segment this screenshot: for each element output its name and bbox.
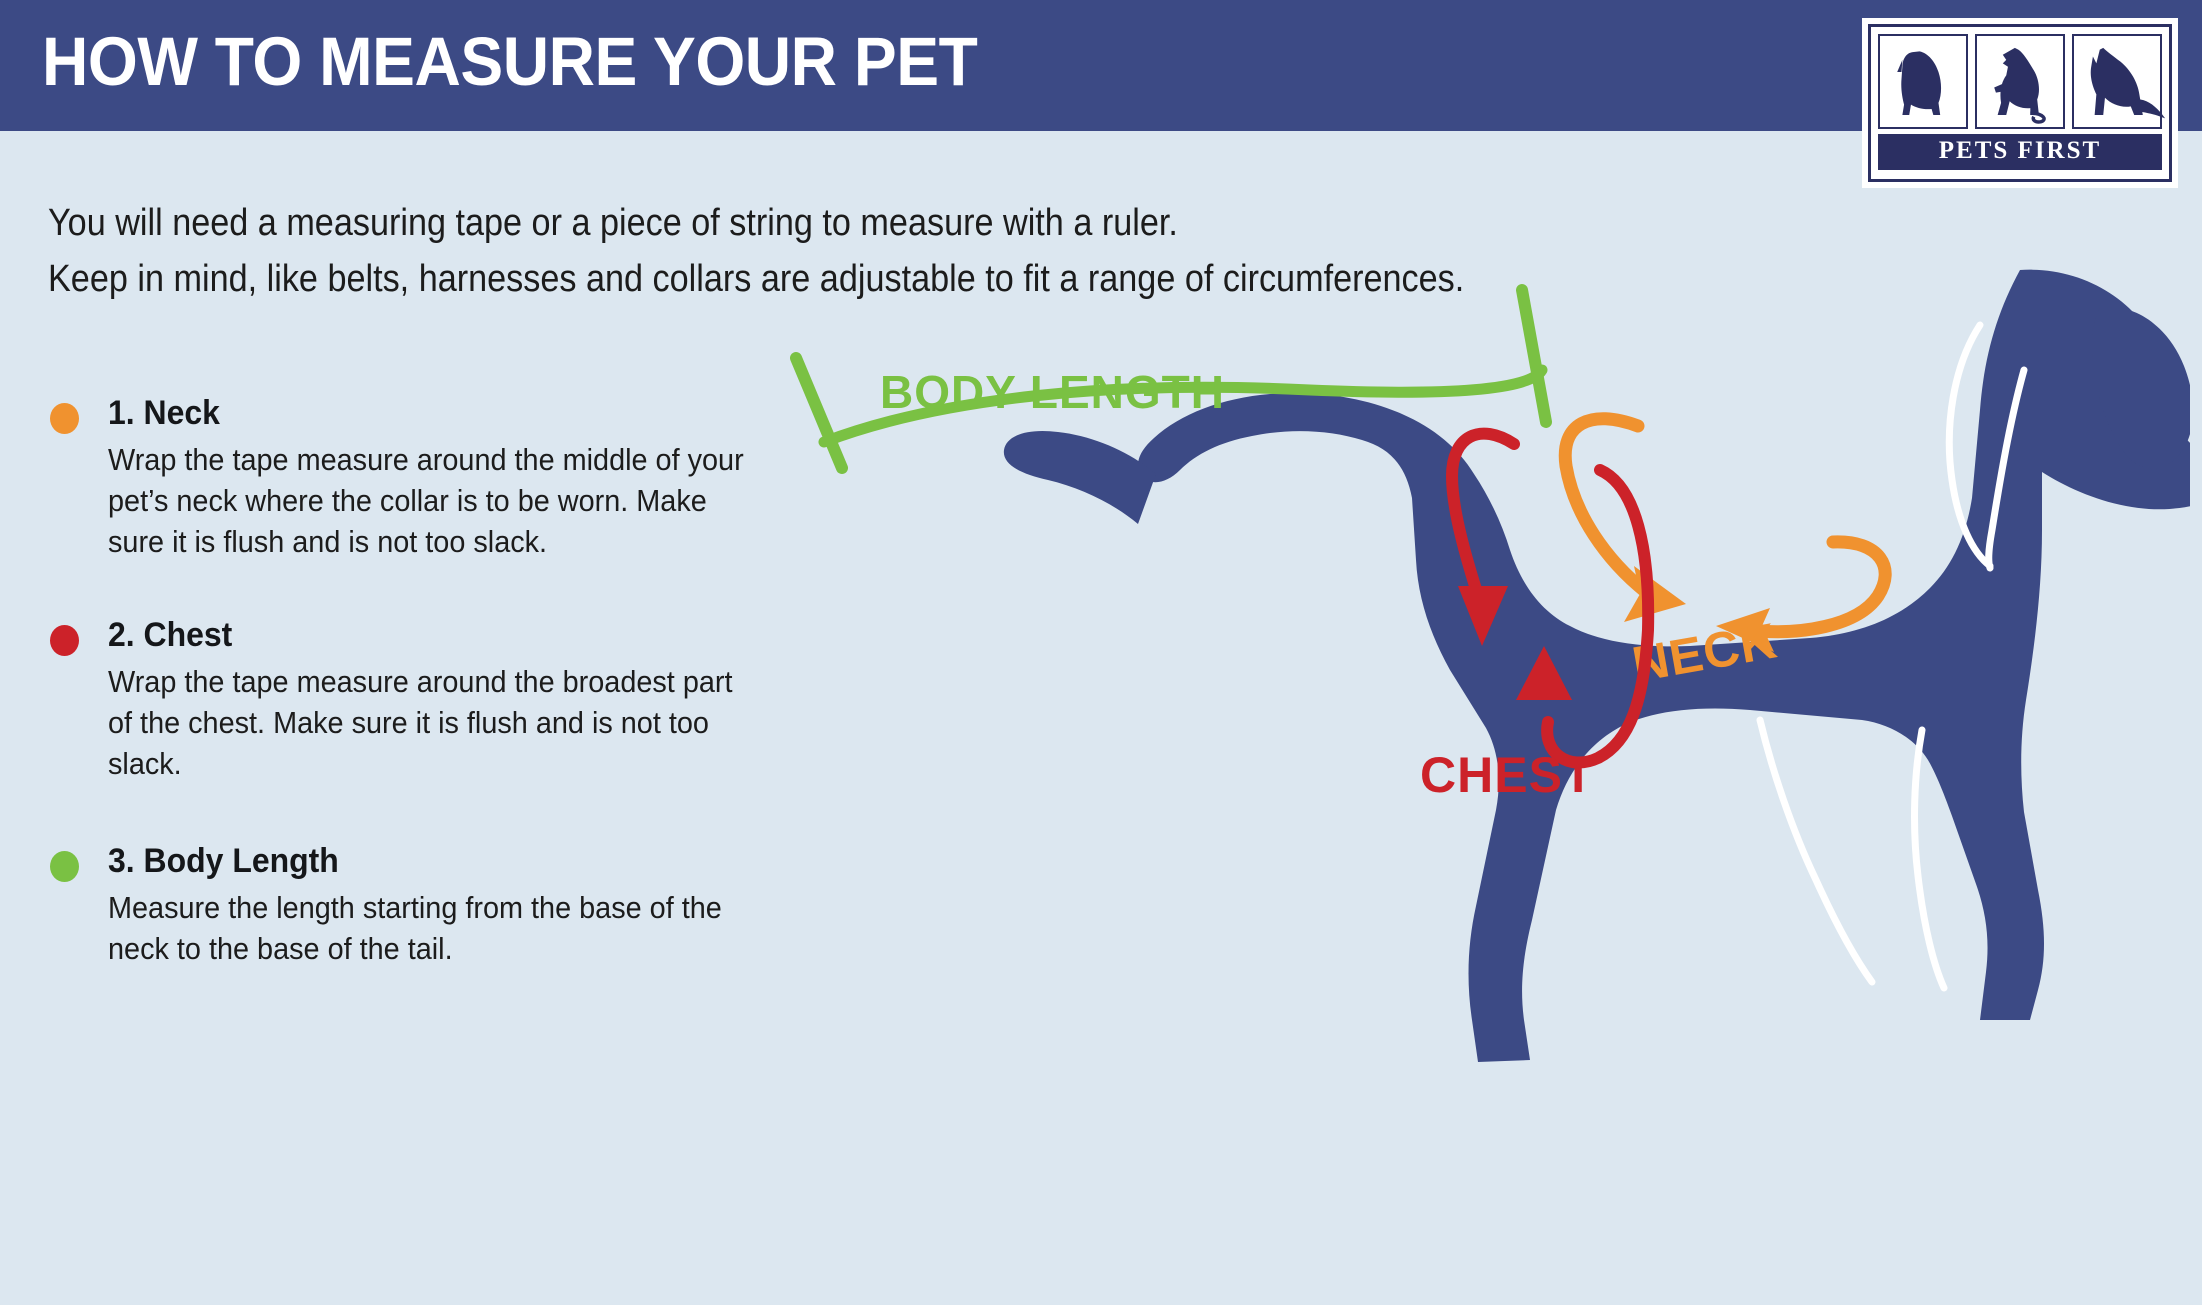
logo-wordmark: PETS FIRST [1878,134,2162,170]
bullet-chest [50,625,79,656]
dog-shepherd-icon [2072,34,2162,129]
label-body-length: BODY LENGTH [880,366,1225,418]
brand-logo: PETS FIRST [1862,18,2178,188]
dog-sitting-icon [1878,34,1968,129]
measurement-steps-list: 1. Neck Wrap the tape measure around the… [48,392,748,1021]
step-title-chest: 2. Chest [108,614,710,656]
step-description-neck: Wrap the tape measure around the middle … [108,439,759,562]
infographic-page: HOW TO MEASURE YOUR PET [0,0,2202,1305]
page-title: HOW TO MEASURE YOUR PET [42,22,977,101]
step-description-chest: Wrap the tape measure around the broades… [108,661,759,784]
dog-measurement-diagram: BODY LENGTH NECK CHEST [690,230,2190,1300]
step-item-chest: 2. Chest Wrap the tape measure around th… [48,614,748,784]
bullet-neck [50,403,79,434]
step-item-neck: 1. Neck Wrap the tape measure around the… [48,392,748,562]
step-description-body-length: Measure the length starting from the bas… [108,887,759,969]
step-title-body-length: 3. Body Length [108,840,710,882]
logo-silhouette-row [1878,34,2162,129]
logo-frame: PETS FIRST [1868,24,2172,182]
step-item-body-length: 3. Body Length Measure the length starti… [48,840,748,969]
label-chest: CHEST [1420,747,1594,803]
bullet-body-length [50,851,79,882]
step-title-neck: 1. Neck [108,392,710,434]
dog-howling-icon [1975,34,2065,129]
